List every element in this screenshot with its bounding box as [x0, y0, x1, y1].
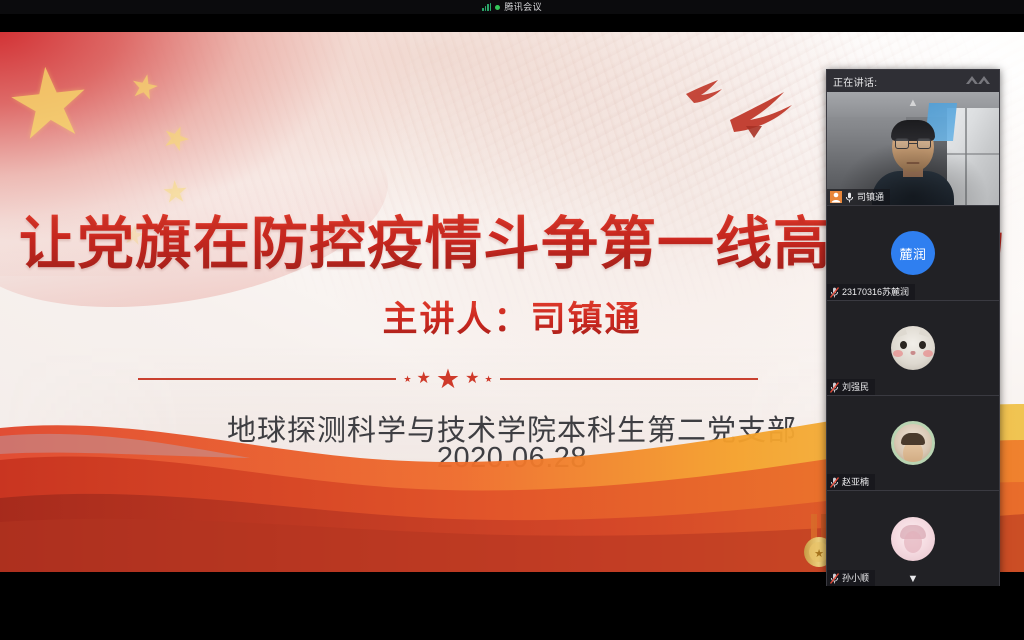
- slide-date: 2020.06.28: [437, 442, 587, 474]
- green-status-dot: [495, 5, 500, 10]
- flag-star-large: ★: [1, 52, 97, 156]
- red-birds-icon: [668, 68, 838, 148]
- flag-star-small-2: ★: [157, 118, 195, 158]
- chevron-down-icon[interactable]: ▼: [908, 574, 919, 585]
- pink-photo-avatar-icon: [891, 517, 935, 561]
- divider-rule-right: [500, 378, 758, 380]
- five-stars-divider: ★ ★ ★ ★ ★: [138, 362, 758, 396]
- participant-name: 刘强民: [842, 383, 869, 392]
- divider-star-xs-left: ★: [403, 375, 411, 384]
- participant-tile-avatar-photo[interactable]: 孙小顺 ▼: [827, 491, 999, 586]
- participant-name: 赵亚楠: [842, 478, 869, 487]
- mic-muted-icon: [830, 287, 839, 298]
- stage-letterbox-bottom: [0, 612, 1024, 626]
- panel-header: 正在讲话:: [827, 70, 999, 92]
- participant-name-chip: 孙小顺: [827, 570, 875, 586]
- tencent-meeting-logo-icon: [965, 74, 993, 87]
- app-name-label: 腾讯会议: [504, 3, 542, 12]
- participant-tile-avatar-initials[interactable]: 麓润 23170316苏麓润: [827, 206, 999, 301]
- divider-star-xs-right: ★: [484, 375, 492, 384]
- divider-star-sm-right: ★: [465, 371, 479, 387]
- participant-name: 孙小顺: [842, 574, 869, 583]
- slide-subtitle: 主讲人：司镇通: [382, 300, 641, 340]
- shared-screen-stage: ★ ★ ★ ★ ★ 让党旗在防控疫情斗争第一线高高飘扬 主讲人：司镇通 ★ ★: [0, 14, 1024, 626]
- chevron-up-icon[interactable]: ▲: [908, 98, 919, 109]
- participant-name: 司镇通: [857, 193, 884, 202]
- mic-muted-icon: [830, 382, 839, 393]
- participant-tile-video[interactable]: ▲ 司镇通: [827, 92, 999, 206]
- initials-avatar: 麓润: [891, 231, 935, 275]
- participant-name-chip: 23170316苏麓润: [827, 284, 915, 300]
- flag-star-small-1: ★: [127, 67, 163, 105]
- cat-photo-avatar-icon: [891, 326, 935, 370]
- divider-star-sm-left: ★: [417, 371, 431, 387]
- system-top-bar: 腾讯会议: [0, 0, 1024, 14]
- participants-panel[interactable]: 正在讲话: ▲: [826, 69, 1000, 586]
- participant-name: 23170316苏麓润: [842, 288, 909, 297]
- signal-bars-icon: [482, 3, 491, 11]
- divider-stars-group: ★ ★ ★ ★ ★: [403, 366, 492, 393]
- divider-rule-left: [138, 378, 396, 380]
- speaker-avatar-badge-icon: [830, 191, 842, 203]
- mic-on-icon: [845, 192, 854, 203]
- mic-muted-icon: [830, 477, 839, 488]
- participant-name-chip: 刘强民: [827, 379, 875, 395]
- speaking-now-label: 正在讲话:: [833, 74, 877, 89]
- participant-name-chip: 司镇通: [827, 189, 890, 205]
- svg-text:★: ★: [814, 548, 824, 560]
- participant-tile-avatar-photo[interactable]: 赵亚楠: [827, 396, 999, 491]
- participant-name-chip: 赵亚楠: [827, 474, 875, 490]
- portrait-photo-avatar-icon: [891, 421, 935, 465]
- participant-tile-avatar-photo[interactable]: 刘强民: [827, 301, 999, 396]
- divider-star-lg-center: ★: [436, 366, 460, 393]
- mic-muted-icon: [830, 573, 839, 584]
